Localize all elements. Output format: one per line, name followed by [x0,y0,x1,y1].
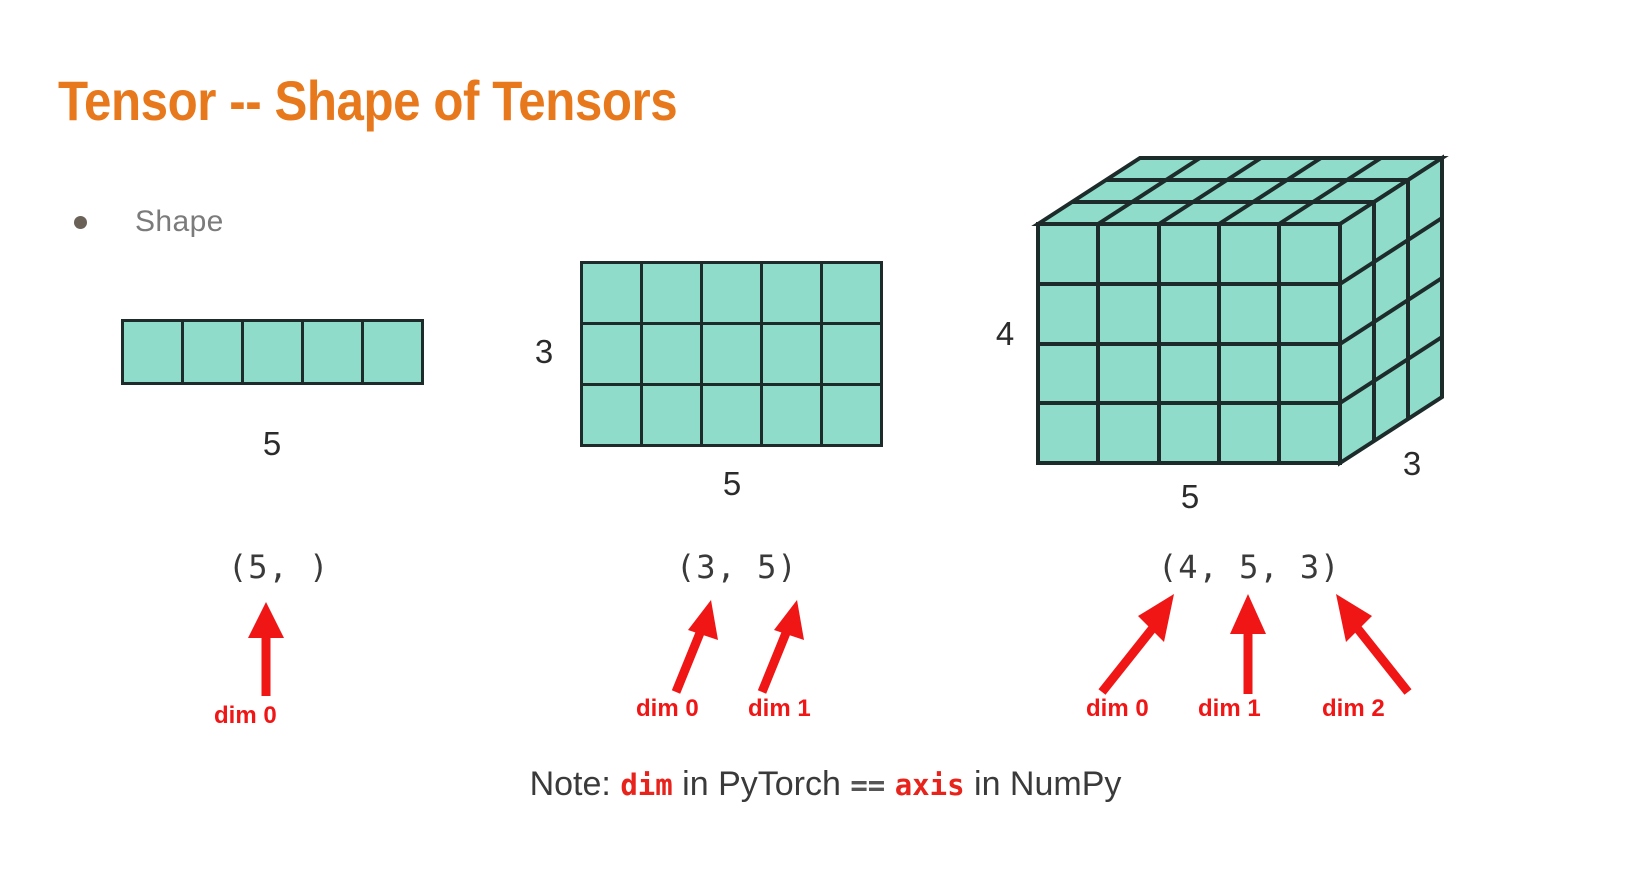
page-title: Tensor -- Shape of Tensors [58,68,677,133]
tensor-cell [823,325,880,383]
tensor-cell [703,325,760,383]
size-label-1d-width: 5 [232,425,312,463]
note-mid-pytorch: in PyTorch [682,765,841,803]
tensor-cell [583,386,640,444]
note-prefix: Note: [530,765,611,803]
tensor-3d-cube [1038,158,1442,463]
note-term-numpy: axis [895,768,965,802]
tensor-cell [364,322,421,382]
arrow-dim2-3d [1316,588,1416,698]
shape-tuple-1d: (5, ) [228,548,329,586]
tensor-cell [643,264,700,322]
dim-label-2d-1: dim 1 [748,695,811,723]
size-label-2d-height: 3 [524,333,564,371]
arrow-dim1-2d [748,596,818,696]
note-operator: == [850,768,885,802]
arrow-dim0-3d [1094,588,1194,698]
tensor-1d-grid [121,319,424,385]
dim-label-1d-0: dim 0 [214,702,277,730]
tensor-cell [244,322,301,382]
tensor-cell [583,325,640,383]
tensor-cell [823,264,880,322]
size-label-3d-depth: 3 [1382,445,1442,483]
note-term-pytorch: dim [620,768,672,802]
dim-label-2d-0: dim 0 [636,695,699,723]
dim-label-3d-2: dim 2 [1322,695,1385,723]
tensor-2d-grid [580,261,883,447]
tensor-cell [763,386,820,444]
tensor-cell [763,325,820,383]
bullet-shape: Shape [74,205,224,239]
cube-front-face [1038,224,1340,463]
dim-label-3d-1: dim 1 [1198,695,1261,723]
tensor-cell [124,322,181,382]
tensor-cell [184,322,241,382]
tensor-cell [703,264,760,322]
tensor-cell [643,386,700,444]
size-label-2d-width: 5 [692,465,772,503]
shape-tuple-2d: (3, 5) [676,548,798,586]
bullet-dot-icon [74,216,87,229]
arrow-dim0-1d [236,600,296,700]
tensor-cell [583,264,640,322]
bullet-label: Shape [135,205,224,239]
tensor-cell [763,264,820,322]
tensor-cell [304,322,361,382]
tensor-cell [703,386,760,444]
arrow-dim1-3d [1218,592,1278,698]
tensor-cell [823,386,880,444]
tensor-cell [643,325,700,383]
slide-canvas: Tensor -- Shape of Tensors Shape 5 (5, )… [0,0,1651,874]
dim-label-3d-0: dim 0 [1086,695,1149,723]
size-label-3d-width: 5 [1150,478,1230,516]
size-label-3d-height: 4 [985,315,1025,353]
shape-tuple-3d: (4, 5, 3) [1158,548,1340,586]
footer-note: Note: dim in PyTorch == axis in NumPy [0,765,1651,804]
note-mid-numpy: in NumPy [974,765,1121,803]
arrow-dim0-2d [662,596,732,696]
